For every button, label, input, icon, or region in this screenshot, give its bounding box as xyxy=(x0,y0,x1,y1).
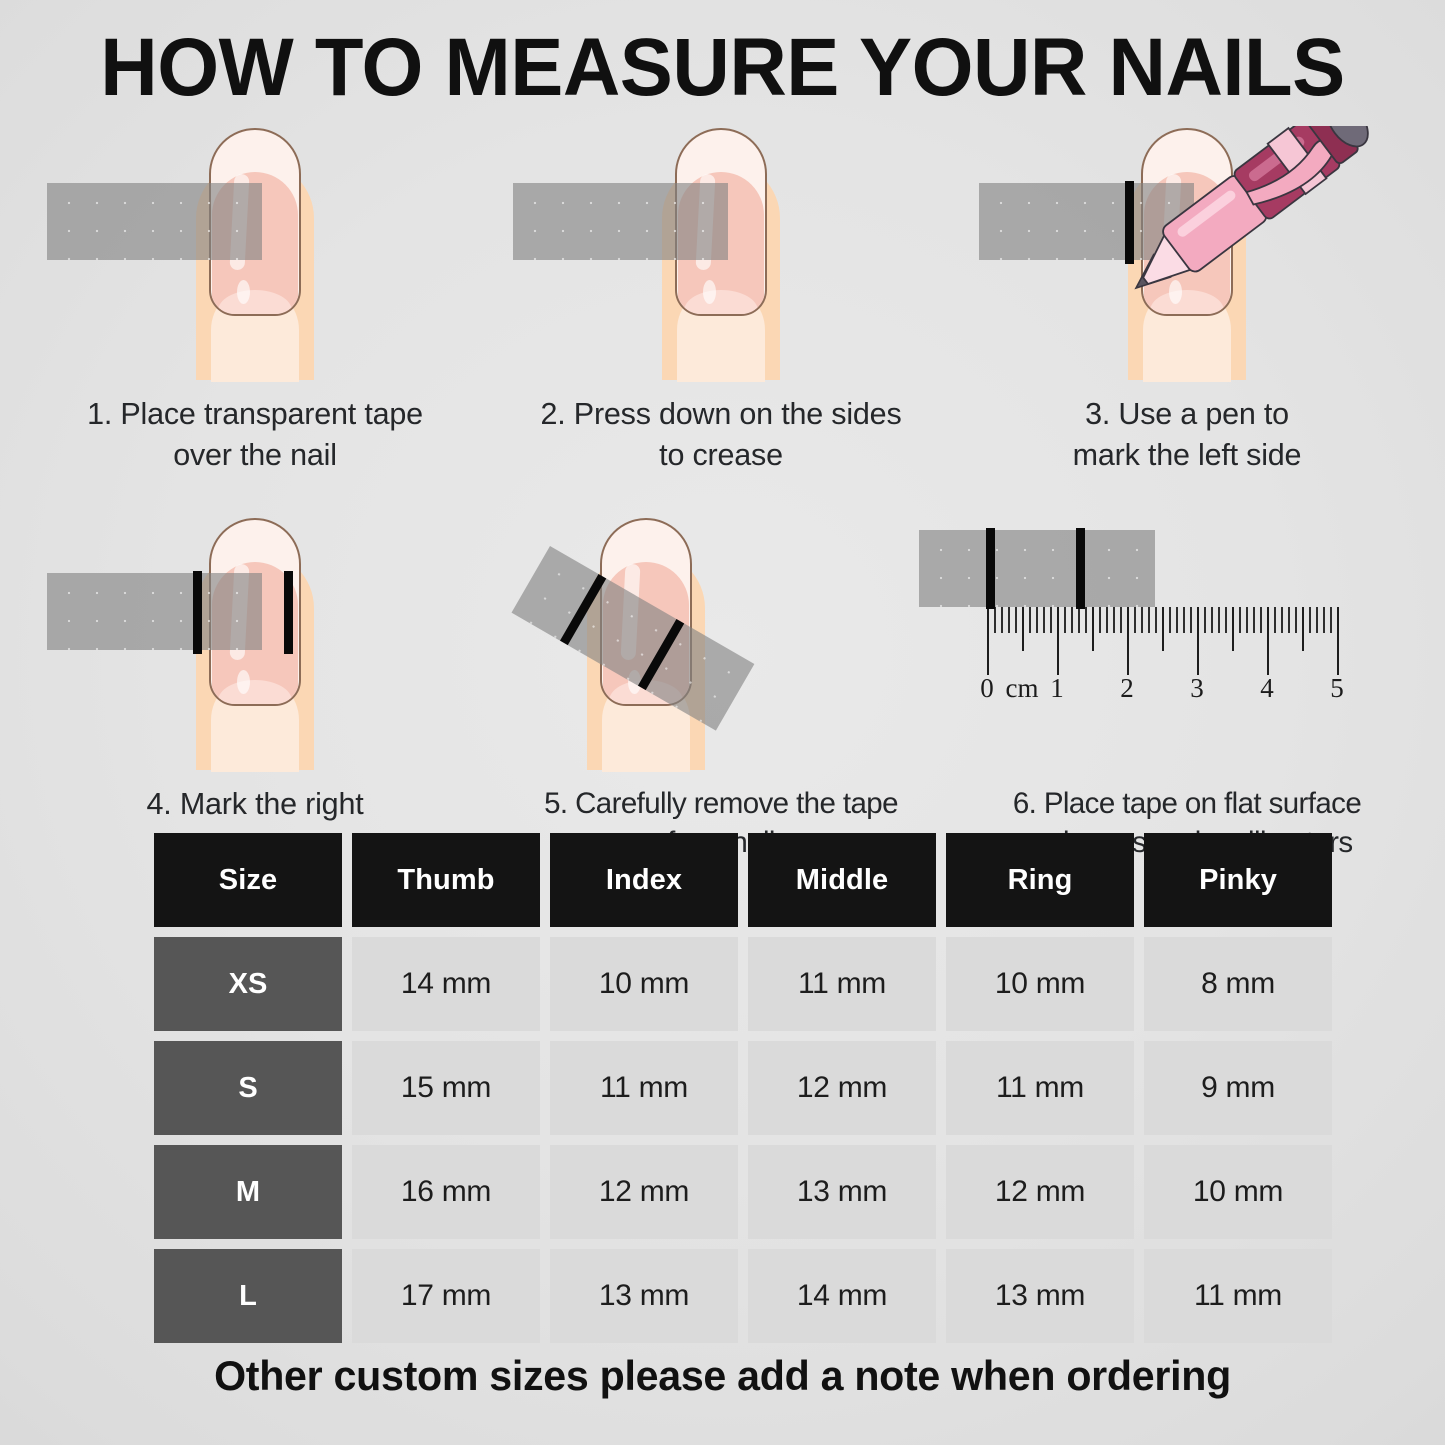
steps-row-2: 4. Mark the right side next xyxy=(22,508,1422,865)
table-cell-m-ring: 12 mm xyxy=(946,1145,1134,1239)
ruler-tick-minor xyxy=(1330,607,1332,633)
table-header-row: SizeThumbIndexMiddleRingPinky xyxy=(154,833,1332,927)
step-2-caption-line2: to crease xyxy=(498,435,944,476)
table-cell-s-middle: 12 mm xyxy=(748,1041,936,1135)
table-size-cell-xs: XS xyxy=(154,937,342,1031)
steps-row-1: 1. Place transparent tape over the nail xyxy=(22,118,1422,475)
table-cell-xs-index: 10 mm xyxy=(550,937,738,1031)
table-cell-m-pinky: 10 mm xyxy=(1144,1145,1332,1239)
step-4-caption-line1: 4. Mark the right xyxy=(32,784,478,825)
steps-section: 1. Place transparent tape over the nail xyxy=(22,118,1422,865)
ruler-tick-minor xyxy=(1316,607,1318,633)
ruler-tick-minor xyxy=(1302,607,1304,651)
ruler-tick-minor xyxy=(1099,607,1101,633)
ruler-icon: 012345cm xyxy=(987,607,1357,717)
ruler-tick-minor xyxy=(1253,607,1255,633)
step-3-caption-line1: 3. Use a pen to xyxy=(964,394,1410,435)
ruler-tick-minor xyxy=(1071,607,1073,633)
ruler-tick-minor xyxy=(1064,607,1066,633)
table-cell-m-index: 12 mm xyxy=(550,1145,738,1239)
table-cell-l-index: 13 mm xyxy=(550,1249,738,1343)
step-1-caption-line2: over the nail xyxy=(32,435,478,476)
ruler-tick-minor xyxy=(994,607,996,633)
table-cell-xs-middle: 11 mm xyxy=(748,937,936,1031)
table-cell-s-thumb: 15 mm xyxy=(352,1041,540,1135)
table-header-middle: Middle xyxy=(748,833,936,927)
ruler-tick-minor xyxy=(1022,607,1024,651)
ruler-tick-minor xyxy=(1043,607,1045,633)
table-size-cell-s: S xyxy=(154,1041,342,1135)
ruler-tick-minor xyxy=(1190,607,1192,633)
ruler-tick-minor xyxy=(1225,607,1227,633)
ruler-tick-major xyxy=(987,607,989,675)
ruler-tick-major xyxy=(1267,607,1269,675)
ruler-unit-label: cm xyxy=(1006,673,1039,704)
ruler-tick-minor xyxy=(1008,607,1010,633)
step-6: 012345cm 6. Place tape on flat surface a… xyxy=(954,508,1420,865)
ruler-tick-minor xyxy=(1246,607,1248,633)
ruler-tick-minor xyxy=(1323,607,1325,633)
step-5-illustration xyxy=(488,508,954,770)
table-cell-s-index: 11 mm xyxy=(550,1041,738,1135)
table-row: L17 mm13 mm14 mm13 mm11 mm xyxy=(154,1249,1332,1343)
ruler-label-2: 2 xyxy=(1120,673,1134,704)
step-2-caption-line1: 2. Press down on the sides xyxy=(498,394,944,435)
ruler-tick-minor xyxy=(1029,607,1031,633)
ruler-tick-major xyxy=(1127,607,1129,675)
ruler-tick-minor xyxy=(1120,607,1122,633)
ruler-label-3: 3 xyxy=(1190,673,1204,704)
step-2-illustration xyxy=(488,118,954,380)
ruler-tick-major xyxy=(1057,607,1059,675)
ruler-tick-major xyxy=(1337,607,1339,675)
ruler-tick-minor xyxy=(1113,607,1115,633)
ruler-tick-minor xyxy=(1232,607,1234,651)
ruler-tick-minor xyxy=(1078,607,1080,633)
step-3: 3. Use a pen to mark the left side xyxy=(954,118,1420,475)
ruler-label-1: 1 xyxy=(1050,673,1064,704)
table-cell-xs-ring: 10 mm xyxy=(946,937,1134,1031)
table-cell-l-thumb: 17 mm xyxy=(352,1249,540,1343)
step-2: 2. Press down on the sides to crease xyxy=(488,118,954,475)
tape-strip-icon xyxy=(47,183,262,260)
step-1: 1. Place transparent tape over the nail xyxy=(22,118,488,475)
table-row: S15 mm11 mm12 mm11 mm9 mm xyxy=(154,1041,1332,1135)
ruler-tick-minor xyxy=(1211,607,1213,633)
step-2-caption: 2. Press down on the sides to crease xyxy=(488,394,954,475)
step-3-caption: 3. Use a pen to mark the left side xyxy=(954,394,1420,475)
ruler-tick-major xyxy=(1197,607,1199,675)
table-header-thumb: Thumb xyxy=(352,833,540,927)
step-1-caption: 1. Place transparent tape over the nail xyxy=(22,394,488,475)
table-row: XS14 mm10 mm11 mm10 mm8 mm xyxy=(154,937,1332,1031)
table-header-ring: Ring xyxy=(946,833,1134,927)
ruler-tick-minor xyxy=(1036,607,1038,633)
step-1-caption-line1: 1. Place transparent tape xyxy=(32,394,478,435)
step-1-illustration xyxy=(22,118,488,380)
ruler-tick-minor xyxy=(1218,607,1220,633)
ruler-tick-minor xyxy=(1260,607,1262,633)
ruler-tick-minor xyxy=(1169,607,1171,633)
ruler-tick-minor xyxy=(1106,607,1108,633)
ruler-tick-minor xyxy=(1309,607,1311,633)
step-6-caption-line1: 6. Place tape on flat surface xyxy=(964,784,1410,823)
ruler-tick-minor xyxy=(1295,607,1297,633)
step-6-illustration: 012345cm xyxy=(954,508,1420,770)
size-chart-table: SizeThumbIndexMiddleRingPinky XS14 mm10 … xyxy=(154,833,1332,1353)
ruler-tick-minor xyxy=(1015,607,1017,633)
ruler-tick-minor xyxy=(1085,607,1087,633)
table-header-size: Size xyxy=(154,833,342,927)
table-header-pinky: Pinky xyxy=(1144,833,1332,927)
ruler-tick-minor xyxy=(1092,607,1094,651)
table-cell-m-middle: 13 mm xyxy=(748,1145,936,1239)
step-5-caption-line1: 5. Carefully remove the tape xyxy=(498,784,944,823)
left-edge-mark-icon xyxy=(986,528,995,609)
ruler-tick-minor xyxy=(1141,607,1143,633)
ruler-tick-minor xyxy=(1155,607,1157,633)
ruler-tick-minor xyxy=(1176,607,1178,633)
tape-strip-icon xyxy=(919,530,1155,607)
tape-strip-icon xyxy=(47,573,262,650)
ruler-tick-minor xyxy=(1183,607,1185,633)
table-size-cell-l: L xyxy=(154,1249,342,1343)
right-edge-mark-icon xyxy=(1076,528,1085,609)
ruler-tick-minor xyxy=(1274,607,1276,633)
table-size-cell-m: M xyxy=(154,1145,342,1239)
ruler-label-0: 0 xyxy=(980,673,994,704)
ruler-tick-minor xyxy=(1134,607,1136,633)
table-row: M16 mm12 mm13 mm12 mm10 mm xyxy=(154,1145,1332,1239)
table-cell-xs-thumb: 14 mm xyxy=(352,937,540,1031)
ruler-tick-minor xyxy=(1281,607,1283,633)
ruler-label-5: 5 xyxy=(1330,673,1344,704)
table-cell-l-ring: 13 mm xyxy=(946,1249,1134,1343)
ruler-tick-minor xyxy=(1148,607,1150,633)
ruler-tick-minor xyxy=(1239,607,1241,633)
table-header-index: Index xyxy=(550,833,738,927)
pen-icon xyxy=(1124,126,1424,306)
footer-note: Other custom sizes please add a note whe… xyxy=(14,1352,1430,1400)
right-edge-mark-icon xyxy=(284,571,293,654)
ruler-label-4: 4 xyxy=(1260,673,1274,704)
step-3-illustration xyxy=(954,118,1420,380)
step-5: 5. Carefully remove the tape from nail xyxy=(488,508,954,865)
tape-strip-icon xyxy=(513,183,728,260)
table-cell-xs-pinky: 8 mm xyxy=(1144,937,1332,1031)
left-edge-mark-icon xyxy=(193,571,202,654)
ruler-tick-minor xyxy=(1050,607,1052,633)
table-cell-m-thumb: 16 mm xyxy=(352,1145,540,1239)
page-title: HOW TO MEASURE YOUR NAILS xyxy=(22,27,1424,109)
ruler-tick-minor xyxy=(1204,607,1206,633)
table-cell-s-pinky: 9 mm xyxy=(1144,1041,1332,1135)
ruler-tick-minor xyxy=(1288,607,1290,633)
ruler-tick-minor xyxy=(1001,607,1003,633)
ruler-tick-minor xyxy=(1162,607,1164,651)
table-cell-s-ring: 11 mm xyxy=(946,1041,1134,1135)
table-cell-l-pinky: 11 mm xyxy=(1144,1249,1332,1343)
table-cell-l-middle: 14 mm xyxy=(748,1249,936,1343)
step-3-caption-line2: mark the left side xyxy=(964,435,1410,476)
